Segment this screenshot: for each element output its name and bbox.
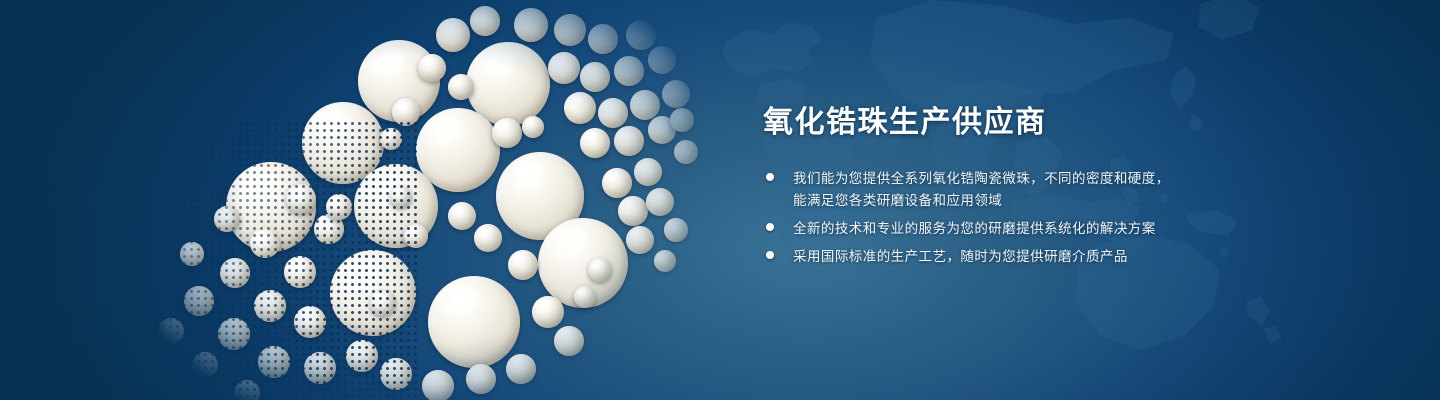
bullet-dot-icon bbox=[766, 223, 774, 231]
bead bbox=[428, 276, 520, 368]
bead bbox=[234, 380, 260, 400]
bead bbox=[630, 90, 660, 120]
beads-cluster bbox=[118, 0, 738, 400]
feature-list: 我们能为您提供全系列氧化锆陶瓷微珠，不同的密度和硬度， 能满足您各类研磨设备和应… bbox=[763, 167, 1403, 268]
bead bbox=[250, 228, 280, 258]
bead bbox=[618, 196, 648, 226]
bead bbox=[508, 250, 538, 280]
bead bbox=[674, 12, 698, 36]
bead bbox=[626, 20, 656, 50]
banner-copy: 氧化锆珠生产供应商 我们能为您提供全系列氧化锆陶瓷微珠，不同的密度和硬度， 能满… bbox=[763, 104, 1403, 273]
list-item: 我们能为您提供全系列氧化锆陶瓷微珠，不同的密度和硬度， 能满足您各类研磨设备和应… bbox=[763, 167, 1403, 212]
bead bbox=[634, 158, 662, 186]
bead bbox=[532, 296, 564, 328]
bead bbox=[470, 6, 500, 36]
bead bbox=[404, 224, 428, 248]
bead bbox=[346, 340, 378, 372]
bullet-dot-icon bbox=[766, 173, 774, 181]
bead bbox=[602, 168, 632, 198]
bead bbox=[184, 286, 214, 316]
bead bbox=[284, 256, 316, 288]
bead bbox=[506, 354, 536, 384]
bead bbox=[574, 286, 596, 308]
hero-banner: 氧化锆珠生产供应商 我们能为您提供全系列氧化锆陶瓷微珠，不同的密度和硬度， 能满… bbox=[0, 0, 1440, 400]
bead bbox=[564, 92, 596, 124]
list-item-text: 采用国际标准的生产工艺，随时为您提供研磨介质产品 bbox=[793, 245, 1403, 268]
page-title: 氧化锆珠生产供应商 bbox=[763, 104, 1403, 142]
bead bbox=[286, 184, 316, 214]
list-item-text: 我们能为您提供全系列氧化锆陶瓷微珠，不同的密度和硬度， bbox=[793, 167, 1403, 190]
bead bbox=[214, 206, 240, 232]
bead bbox=[614, 56, 644, 86]
list-item: 采用国际标准的生产工艺，随时为您提供研磨介质产品 bbox=[763, 245, 1403, 268]
bead bbox=[254, 290, 286, 322]
bead bbox=[474, 224, 502, 252]
bead bbox=[554, 14, 586, 46]
bead bbox=[326, 194, 352, 220]
zirconia-beads-photo bbox=[118, 0, 738, 400]
bead bbox=[390, 186, 412, 208]
bullet-dot-icon bbox=[766, 251, 774, 259]
bead bbox=[626, 226, 654, 254]
list-item-text: 全新的技术和专业的服务为您的研磨提供系统化的解决方案 bbox=[793, 217, 1403, 240]
list-item-text-continued: 能满足您各类研磨设备和应用领域 bbox=[793, 189, 1403, 212]
bead bbox=[492, 118, 522, 148]
bead bbox=[522, 116, 544, 138]
bead bbox=[670, 108, 694, 132]
bead bbox=[548, 52, 580, 84]
bead bbox=[304, 352, 336, 384]
bead bbox=[598, 98, 628, 128]
bead bbox=[648, 46, 676, 74]
bead bbox=[580, 128, 610, 158]
bead bbox=[380, 128, 402, 150]
bead bbox=[588, 24, 618, 54]
bead bbox=[466, 364, 496, 394]
bead bbox=[158, 318, 184, 344]
bead bbox=[448, 202, 476, 230]
bead bbox=[258, 346, 290, 378]
bead bbox=[370, 290, 396, 316]
bead bbox=[654, 250, 676, 272]
bead bbox=[580, 62, 610, 92]
bead bbox=[192, 352, 218, 378]
bead bbox=[436, 18, 470, 52]
bead bbox=[614, 126, 644, 156]
bead bbox=[664, 218, 688, 242]
bead bbox=[422, 370, 454, 400]
bead bbox=[380, 358, 412, 390]
bead bbox=[588, 258, 612, 282]
bead bbox=[674, 140, 698, 164]
bead bbox=[218, 318, 250, 350]
bead bbox=[220, 258, 250, 288]
bead bbox=[554, 326, 584, 356]
bead bbox=[448, 74, 474, 100]
bead bbox=[180, 242, 204, 266]
bead bbox=[662, 80, 690, 108]
bead bbox=[514, 8, 548, 42]
bead bbox=[294, 306, 326, 338]
list-item: 全新的技术和专业的服务为您的研磨提供系统化的解决方案 bbox=[763, 217, 1403, 240]
bead bbox=[418, 54, 446, 82]
bead bbox=[646, 188, 674, 216]
bead bbox=[392, 98, 420, 126]
